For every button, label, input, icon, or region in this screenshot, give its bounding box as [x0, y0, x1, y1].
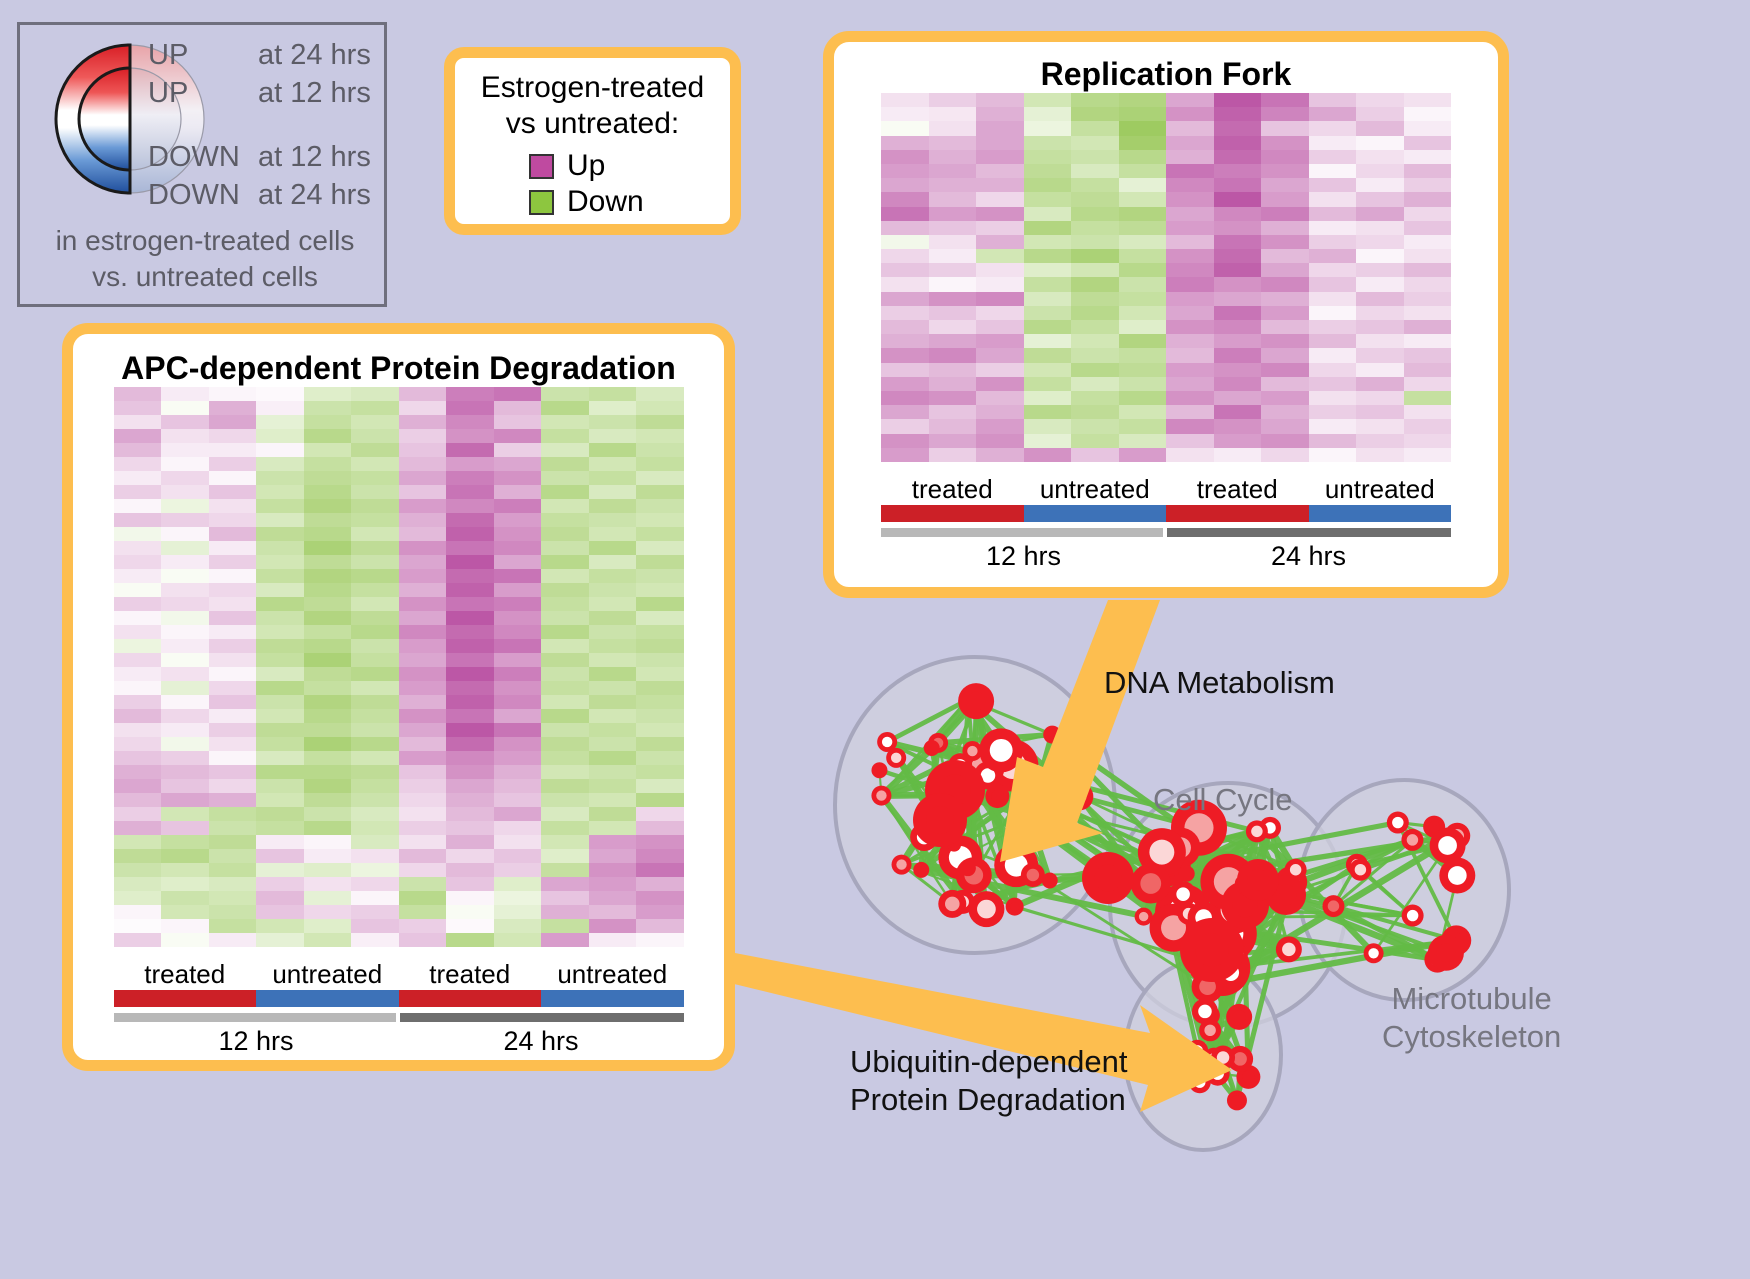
heatmap-cell — [351, 471, 399, 485]
heatmap-cell — [494, 709, 542, 723]
heatmap-cell — [256, 709, 304, 723]
network-edges — [879, 700, 1457, 1101]
heatmap-cell — [1404, 277, 1452, 291]
heatmap-cell — [351, 863, 399, 877]
network-node — [1387, 812, 1409, 834]
heatmap-cell — [929, 164, 977, 178]
heatmap-cell — [1166, 178, 1214, 192]
heatmap-cell — [636, 667, 684, 681]
heatmap-cell — [494, 933, 542, 947]
heatmap-cell — [1261, 363, 1309, 377]
heatmap-cell — [304, 513, 352, 527]
sample-group-labels: treateduntreatedtreateduntreated — [881, 474, 1451, 505]
heatmap-cell — [256, 681, 304, 695]
heatmap-cell — [114, 695, 162, 709]
heatmap-cell — [1119, 221, 1167, 235]
heatmap-cell — [351, 919, 399, 933]
heatmap-cell — [636, 499, 684, 513]
heatmap-cell — [304, 807, 352, 821]
network-node — [924, 740, 940, 756]
heatmap-cell — [1024, 207, 1072, 221]
heatmap-cell — [399, 653, 447, 667]
sample-group-label: untreated — [541, 959, 684, 990]
heatmap-cell — [161, 863, 209, 877]
heatmap-cell — [1261, 93, 1309, 107]
heatmap-cell — [1119, 334, 1167, 348]
heatmap-cell — [929, 207, 977, 221]
heatmap-cell — [161, 891, 209, 905]
heatmap-cell — [1166, 434, 1214, 448]
heatmap-cell — [209, 527, 257, 541]
heatmap-cell — [1309, 93, 1357, 107]
figure-canvas: UP at 24 hrs UP at 12 hrs DOWN at 12 hrs… — [0, 0, 1750, 1279]
heatmap-cell — [541, 765, 589, 779]
network-node — [1209, 886, 1257, 934]
heatmap-cell — [256, 401, 304, 415]
network-node — [1192, 998, 1218, 1024]
heatmap-cell — [494, 457, 542, 471]
heatmap-cell — [589, 625, 637, 639]
heatmap-cell — [304, 443, 352, 457]
heatmap-cell — [636, 513, 684, 527]
heatmap-cell — [114, 667, 162, 681]
heatmap-cell — [114, 485, 162, 499]
heatmap-cell — [1119, 320, 1167, 334]
heatmap-cell — [881, 207, 929, 221]
heatmap-cell — [399, 401, 447, 415]
heatmap-cell — [1119, 419, 1167, 433]
heatmap-cell — [351, 597, 399, 611]
heatmap-cell — [589, 401, 637, 415]
heatmap-cell — [1404, 192, 1452, 206]
heatmap-cell — [589, 387, 637, 401]
heatmap-cell — [161, 681, 209, 695]
heatmap-cell — [1119, 150, 1167, 164]
network-node-core — [1214, 867, 1243, 896]
heatmap-cell — [446, 793, 494, 807]
heatmap-cell — [636, 751, 684, 765]
heatmap-cell — [1356, 377, 1404, 391]
heatmap-cell — [1214, 377, 1262, 391]
heatmap-cell — [114, 611, 162, 625]
network-node — [1042, 873, 1058, 889]
heatmap-cell — [399, 639, 447, 653]
heatmap-cell — [1119, 277, 1167, 291]
heatmap-cell — [1214, 306, 1262, 320]
heatmap-cell — [1166, 405, 1214, 419]
heatmap-cell — [1404, 107, 1452, 121]
heatmap-cell — [636, 919, 684, 933]
network-node — [1275, 866, 1307, 898]
network-node — [1346, 854, 1368, 876]
heatmap-cell — [1261, 277, 1309, 291]
heatmap-cell — [1214, 405, 1262, 419]
heatmap-cell — [256, 443, 304, 457]
heatmap-cell — [446, 751, 494, 765]
sample-group-colorbar — [881, 505, 1451, 522]
heatmap-cell — [161, 919, 209, 933]
network-node-core — [1217, 1051, 1229, 1063]
heatmap-cell — [209, 835, 257, 849]
key-row-down-24: DOWN at 24 hrs — [148, 179, 371, 212]
heatmap-cell — [446, 877, 494, 891]
network-node — [1006, 898, 1024, 916]
network-node — [1203, 1048, 1225, 1070]
heatmap-cell — [636, 933, 684, 947]
heatmap-cell — [636, 695, 684, 709]
heatmap-cell — [929, 334, 977, 348]
heatmap-grid-apc — [114, 387, 684, 947]
heatmap-cell — [636, 807, 684, 821]
heatmap-cell — [636, 597, 684, 611]
heatmap-cell — [976, 292, 1024, 306]
heatmap-cell — [114, 681, 162, 695]
heatmap-cell — [1024, 348, 1072, 362]
heatmap-cell — [446, 485, 494, 499]
heatmap-cell — [1261, 348, 1309, 362]
key-time-label: at 24 hrs — [258, 179, 371, 212]
heatmap-cell — [114, 765, 162, 779]
heatmap-cell — [446, 737, 494, 751]
heatmap-cell — [494, 821, 542, 835]
network-node-core — [1251, 826, 1262, 837]
heatmap-cell — [1024, 235, 1072, 249]
heatmap-cell — [1309, 136, 1357, 150]
heatmap-cell — [494, 919, 542, 933]
heatmap-cell — [1024, 164, 1072, 178]
cluster-label-microtubule-cytoskeleton: Microtubule Cytoskeleton — [1382, 980, 1561, 1056]
heatmap-cell — [1214, 178, 1262, 192]
heatmap-cell — [589, 737, 637, 751]
heatmap-cell — [351, 401, 399, 415]
heatmap-cell — [1214, 235, 1262, 249]
heatmap-cell — [976, 391, 1024, 405]
network-node-core — [1392, 817, 1403, 828]
heatmap-cell — [1356, 178, 1404, 192]
heatmap-cell — [1309, 391, 1357, 405]
heatmap-cell — [1214, 348, 1262, 362]
heatmap-cell — [976, 419, 1024, 433]
key-direction-label: UP — [148, 77, 258, 110]
heatmap-cell — [114, 471, 162, 485]
heatmap-cell — [256, 933, 304, 947]
heatmap-cell — [1309, 377, 1357, 391]
heatmap-cell — [541, 513, 589, 527]
heatmap-cell — [1119, 448, 1167, 462]
heatmap-cell — [1404, 221, 1452, 235]
network-node — [1439, 857, 1475, 893]
key-time-label: at 12 hrs — [258, 141, 371, 174]
heatmap-cell — [446, 779, 494, 793]
cluster-halo-dna-metabolism — [835, 657, 1115, 953]
heatmap-cell — [304, 597, 352, 611]
heatmap-cell — [209, 695, 257, 709]
heatmap-cell — [1261, 405, 1309, 419]
heatmap-cell — [1024, 93, 1072, 107]
heatmap-cell — [1071, 249, 1119, 263]
network-node — [1441, 925, 1471, 955]
heatmap-cell — [399, 779, 447, 793]
network-node — [871, 762, 887, 778]
heatmap-cell — [1261, 306, 1309, 320]
network-node-core — [1448, 866, 1467, 885]
heatmap-cell — [209, 569, 257, 583]
heatmap-cell — [541, 737, 589, 751]
heatmap-cell — [256, 499, 304, 513]
heatmap-cell — [351, 541, 399, 555]
heatmap-cell — [541, 793, 589, 807]
network-node-core — [939, 774, 970, 805]
heatmap-cell — [541, 905, 589, 919]
heatmap-cell — [1071, 207, 1119, 221]
heatmap-cell — [589, 835, 637, 849]
heatmap-cell — [351, 457, 399, 471]
heatmap-cell — [399, 499, 447, 513]
heatmap-cell — [929, 150, 977, 164]
heatmap-cell — [1261, 249, 1309, 263]
network-node — [910, 823, 938, 851]
network-node-core — [1205, 1010, 1215, 1020]
network-node — [1200, 1005, 1220, 1025]
heatmap-cell — [929, 178, 977, 192]
heatmap-cell — [1356, 121, 1404, 135]
heatmap-cell — [541, 639, 589, 653]
heatmap-cell — [256, 905, 304, 919]
network-node — [1177, 840, 1195, 858]
sample-group-colorbar — [114, 990, 684, 1007]
heatmap-cell — [209, 639, 257, 653]
heatmap-cell — [114, 639, 162, 653]
network-node-core — [1208, 1053, 1219, 1064]
network-node — [1259, 817, 1281, 839]
heatmap-cell — [161, 485, 209, 499]
heatmap-cell — [1166, 235, 1214, 249]
network-node — [1170, 881, 1196, 907]
network-node — [985, 784, 1009, 808]
heatmap-cell — [636, 723, 684, 737]
network-node-core — [1027, 869, 1039, 881]
heatmap-cell — [351, 835, 399, 849]
network-node-core — [949, 846, 972, 869]
heatmap-cell — [1261, 192, 1309, 206]
heatmap-cell — [589, 905, 637, 919]
heatmap-cell — [589, 695, 637, 709]
heatmap-cell — [304, 429, 352, 443]
heatmap-cell — [636, 905, 684, 919]
heatmap-cell — [399, 541, 447, 555]
heatmap-cell — [209, 443, 257, 457]
network-node — [1155, 884, 1211, 940]
heatmap-cell — [114, 499, 162, 513]
network-node — [1364, 943, 1384, 963]
network-node — [1423, 816, 1445, 838]
heatmap-cell — [881, 306, 929, 320]
sample-group-label: treated — [881, 474, 1024, 505]
cluster-label-ubiquitin-protein-degradation: Ubiquitin-dependent Protein Degradation — [850, 1043, 1128, 1119]
network-node — [1201, 906, 1257, 962]
timepoint-colorbar — [881, 528, 1451, 537]
heatmap-cell — [541, 751, 589, 765]
legend-item-up: Up — [529, 148, 730, 184]
heatmap-cell — [1024, 263, 1072, 277]
heatmap-cell — [976, 306, 1024, 320]
heatmap-cell — [1356, 93, 1404, 107]
heatmap-cell — [541, 695, 589, 709]
heatmap-cell — [1119, 235, 1167, 249]
network-node — [956, 857, 992, 893]
heatmap-cell — [1309, 419, 1357, 433]
heatmap-cell — [976, 164, 1024, 178]
heatmap-cell — [351, 485, 399, 499]
heatmap-cell — [1166, 391, 1214, 405]
heatmap-cell — [976, 377, 1024, 391]
network-node-core — [1438, 836, 1457, 855]
heatmap-cell — [1214, 221, 1262, 235]
heatmap-cell — [1356, 207, 1404, 221]
heatmap-cell — [1119, 363, 1167, 377]
heatmap-cell — [589, 765, 637, 779]
heatmap-cell — [1309, 207, 1357, 221]
heatmap-cell — [541, 667, 589, 681]
heatmap-cell — [304, 667, 352, 681]
heatmap-cell — [256, 569, 304, 583]
heatmap-cell — [399, 849, 447, 863]
heatmap-cell — [1309, 221, 1357, 235]
heatmap-cell — [1261, 121, 1309, 135]
heatmap-cell — [1356, 164, 1404, 178]
heatmap-cell — [881, 405, 929, 419]
cluster-label-cell-cycle: Cell Cycle — [1153, 781, 1293, 819]
legend-label-down: Down — [567, 185, 644, 219]
network-node — [1206, 1062, 1230, 1086]
heatmap-cell — [351, 569, 399, 583]
heatmap-cell — [1404, 448, 1452, 462]
heatmap-cell — [114, 905, 162, 919]
heatmap-cell — [541, 541, 589, 555]
heatmap-cell — [929, 249, 977, 263]
heatmap-cell — [589, 807, 637, 821]
heatmap-cell — [1071, 277, 1119, 291]
heatmap-cell — [351, 933, 399, 947]
heatmap-cell — [304, 709, 352, 723]
heatmap-cell — [304, 471, 352, 485]
heatmap-cell — [589, 793, 637, 807]
network-node — [928, 733, 948, 753]
heatmap-cell — [1214, 292, 1262, 306]
heatmap-cell — [494, 569, 542, 583]
heatmap-cell — [1166, 292, 1214, 306]
sample-group-label: untreated — [1024, 474, 1167, 505]
heatmap-cell — [399, 597, 447, 611]
heatmap-cell — [1404, 235, 1452, 249]
heatmap-cell — [494, 639, 542, 653]
network-node — [974, 761, 1002, 789]
key-row-up-12: UP at 12 hrs — [148, 77, 371, 110]
network-node-core — [1232, 1095, 1242, 1105]
heatmap-cell — [1024, 306, 1072, 320]
network-node-core — [1208, 953, 1237, 982]
heatmap-cell — [161, 555, 209, 569]
heatmap-cell — [976, 93, 1024, 107]
heatmap-cell — [161, 905, 209, 919]
heatmap-cell — [446, 863, 494, 877]
heatmap-cell — [1404, 207, 1452, 221]
heatmap-cell — [881, 164, 929, 178]
heatmap-title-apc: APC-dependent Protein Degradation — [73, 350, 724, 387]
network-node-core — [1328, 900, 1339, 911]
heatmap-cell — [881, 334, 929, 348]
network-node — [1349, 859, 1371, 881]
heatmap-cell — [881, 348, 929, 362]
heatmap-cell — [1404, 263, 1452, 277]
key-time-label: at 24 hrs — [258, 39, 371, 72]
network-node-core — [1234, 949, 1243, 958]
sample-group-colorbar-segment — [399, 990, 542, 1007]
network-node — [1082, 852, 1134, 904]
heatmap-cell — [1309, 363, 1357, 377]
network-node — [1276, 936, 1302, 962]
network-node-core — [1264, 822, 1275, 833]
heatmap-cell — [494, 555, 542, 569]
heatmap-cell — [304, 835, 352, 849]
heatmap-cell — [114, 919, 162, 933]
heatmap-cell — [114, 709, 162, 723]
heatmap-axis-apc: treateduntreatedtreateduntreated12 hrs24… — [114, 959, 684, 1057]
heatmap-cell — [1166, 207, 1214, 221]
heatmap-cell — [256, 611, 304, 625]
network-node — [1227, 1046, 1253, 1072]
heatmap-cell — [1071, 292, 1119, 306]
heatmap-cell — [351, 429, 399, 443]
heatmap-cell — [1166, 121, 1214, 135]
heatmap-cell — [589, 639, 637, 653]
network-node — [1444, 823, 1470, 849]
heatmap-cell — [589, 555, 637, 569]
network-node-core — [891, 753, 901, 763]
network-node — [948, 753, 972, 777]
timepoint-colorbar-segment — [400, 1013, 684, 1022]
heatmap-cell — [1024, 292, 1072, 306]
heatmap-cell — [1024, 121, 1072, 135]
heatmap-cell — [976, 348, 1024, 362]
heatmap-cell — [1071, 334, 1119, 348]
heatmap-cell — [351, 611, 399, 625]
heatmap-cell — [1024, 334, 1072, 348]
network-node-core — [1290, 864, 1301, 875]
sample-group-label: untreated — [256, 959, 399, 990]
heatmap-cell — [351, 793, 399, 807]
heatmap-cell — [494, 401, 542, 415]
heatmap-cell — [1404, 292, 1452, 306]
heatmap-cell — [1309, 164, 1357, 178]
key-direction-label: DOWN — [148, 141, 258, 174]
heatmap-cell — [636, 443, 684, 457]
heatmap-cell — [1309, 348, 1357, 362]
heatmap-cell — [1404, 377, 1452, 391]
heatmap-cell — [399, 863, 447, 877]
heatmap-cell — [1166, 221, 1214, 235]
heatmap-cell — [1356, 263, 1404, 277]
heatmap-cell — [256, 583, 304, 597]
heatmap-cell — [1356, 235, 1404, 249]
heatmap-cell — [589, 779, 637, 793]
network-node-core — [1242, 1071, 1254, 1083]
heatmap-cell — [589, 653, 637, 667]
network-node-core — [1247, 869, 1269, 891]
arrow-to-dna-metabolism — [1000, 600, 1160, 862]
heatmap-cell — [1309, 192, 1357, 206]
network-node-core — [1232, 1010, 1246, 1024]
